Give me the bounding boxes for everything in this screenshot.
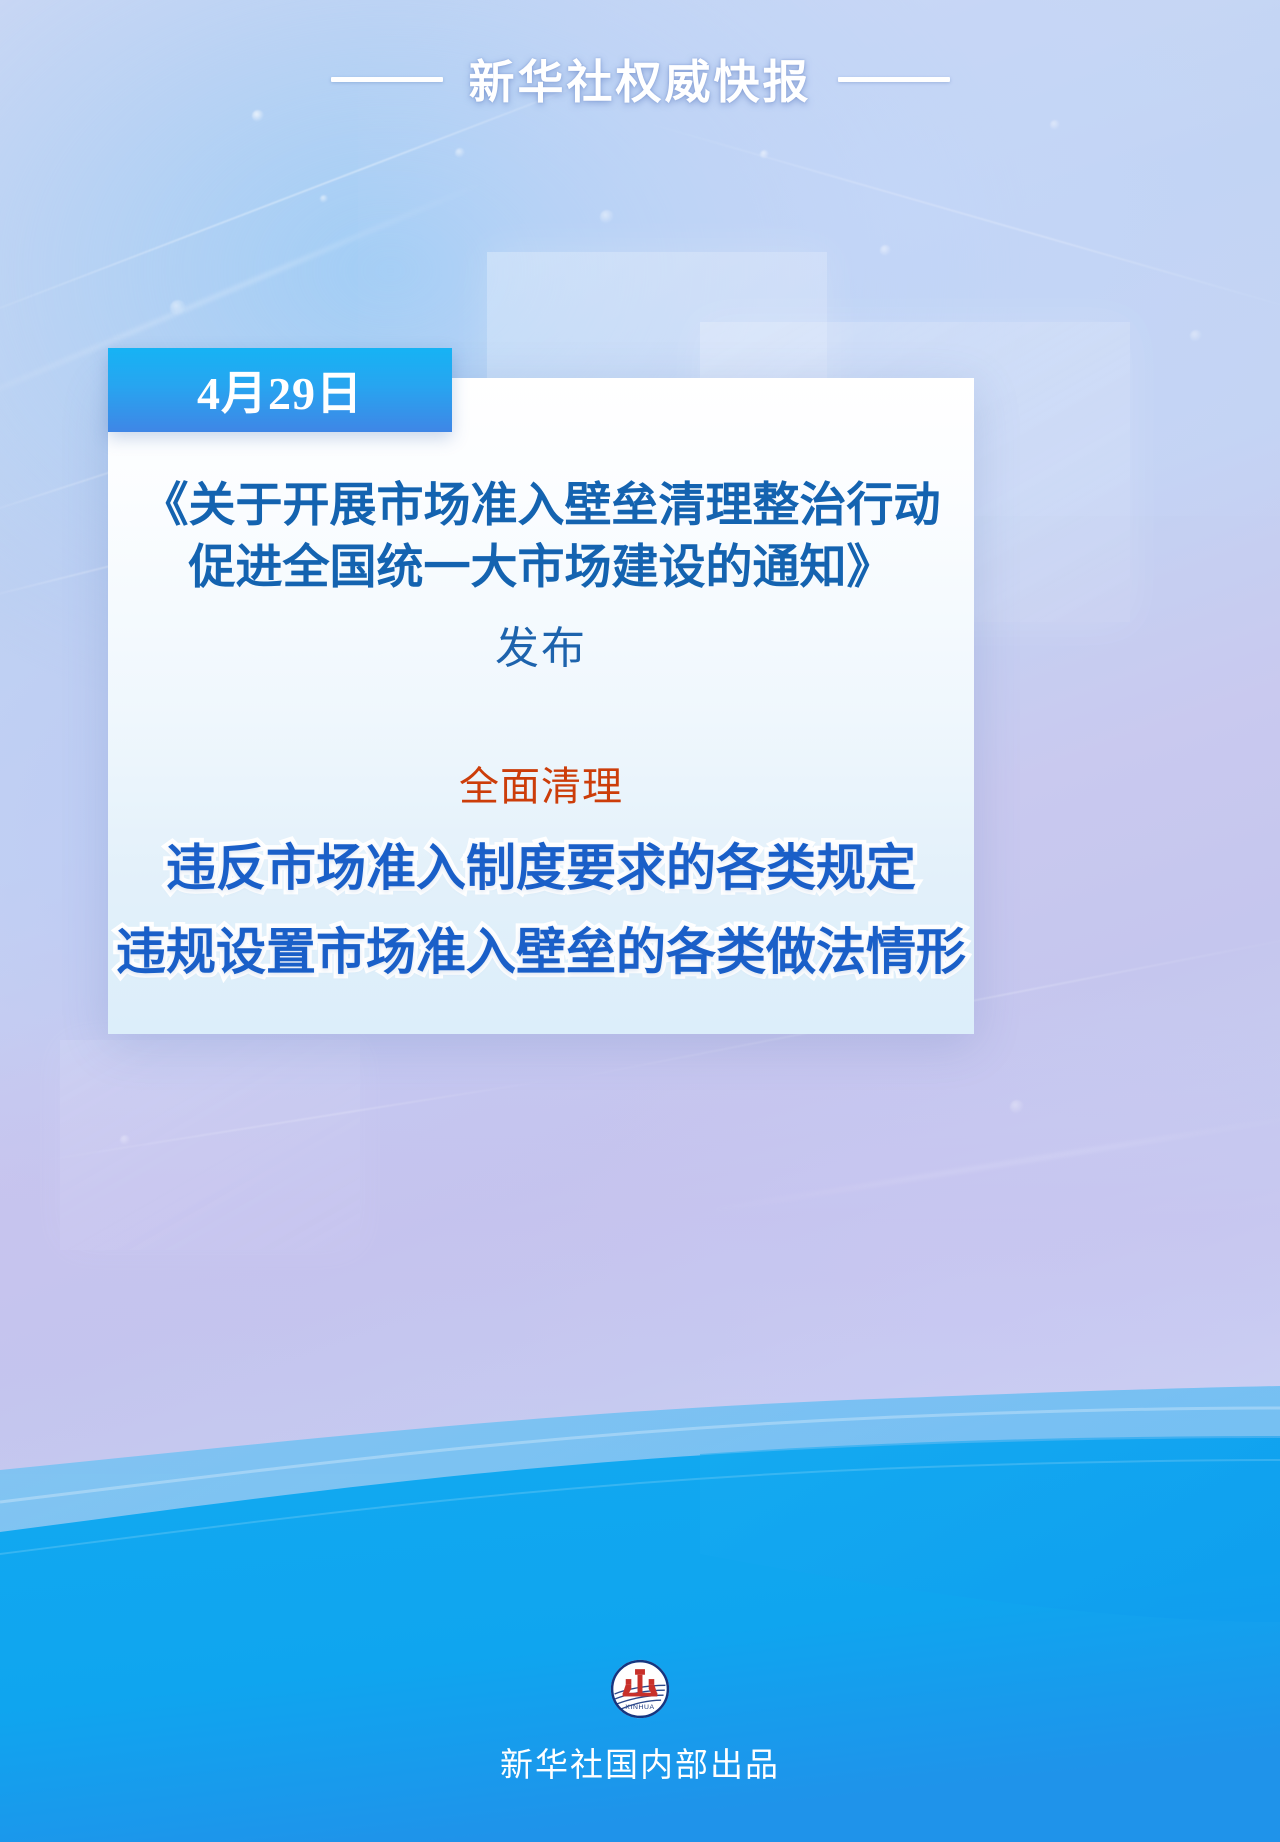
poster-root: 新华社权威快报 《关于开展市场准入壁垒清理整治行动 促进全国统一大市场建设的通知…	[0, 0, 1280, 1842]
footer-text: 新华社国内部出品	[500, 1738, 780, 1786]
content-card-inner: 《关于开展市场准入壁垒清理整治行动 促进全国统一大市场建设的通知》 发布 全面清…	[108, 378, 974, 1034]
header-title: 新华社权威快报	[469, 46, 812, 112]
bokeh-dot	[455, 148, 465, 158]
content-card: 《关于开展市场准入壁垒清理整治行动 促进全国统一大市场建设的通知》 发布 全面清…	[108, 378, 974, 1034]
bokeh-dot	[600, 210, 614, 224]
header: 新华社权威快报	[0, 46, 1280, 112]
highlight-line-2: 违规设置市场准入壁垒的各类做法情形	[116, 912, 966, 984]
header-rule-left-icon	[331, 77, 443, 82]
bokeh-dot	[760, 150, 769, 159]
bokeh-dot	[320, 195, 328, 203]
header-rule-right-icon	[838, 77, 950, 82]
xinhua-agency-logo-icon: XINHUA	[609, 1658, 671, 1720]
bokeh-dot	[1190, 330, 1202, 342]
document-title-line-1: 《关于开展市场准入壁垒清理整治行动	[142, 474, 941, 536]
bokeh-dot	[880, 245, 891, 256]
bokeh-dot	[120, 1135, 130, 1145]
date-badge-label: 4月29日	[197, 357, 363, 423]
date-badge: 4月29日	[108, 348, 452, 432]
bokeh-dot	[1050, 120, 1060, 130]
highlight-line-1: 违反市场准入制度要求的各类规定	[166, 828, 916, 900]
release-word: 发布	[495, 612, 587, 676]
accent-text: 全面清理	[459, 754, 623, 812]
document-title-line-2: 促进全国统一大市场建设的通知》	[189, 536, 894, 598]
bokeh-dot	[1010, 1100, 1024, 1114]
bokeh-dot	[170, 300, 186, 316]
logo-caption: XINHUA	[625, 1704, 654, 1711]
footer: XINHUA 新华社国内部出品	[0, 1658, 1280, 1786]
